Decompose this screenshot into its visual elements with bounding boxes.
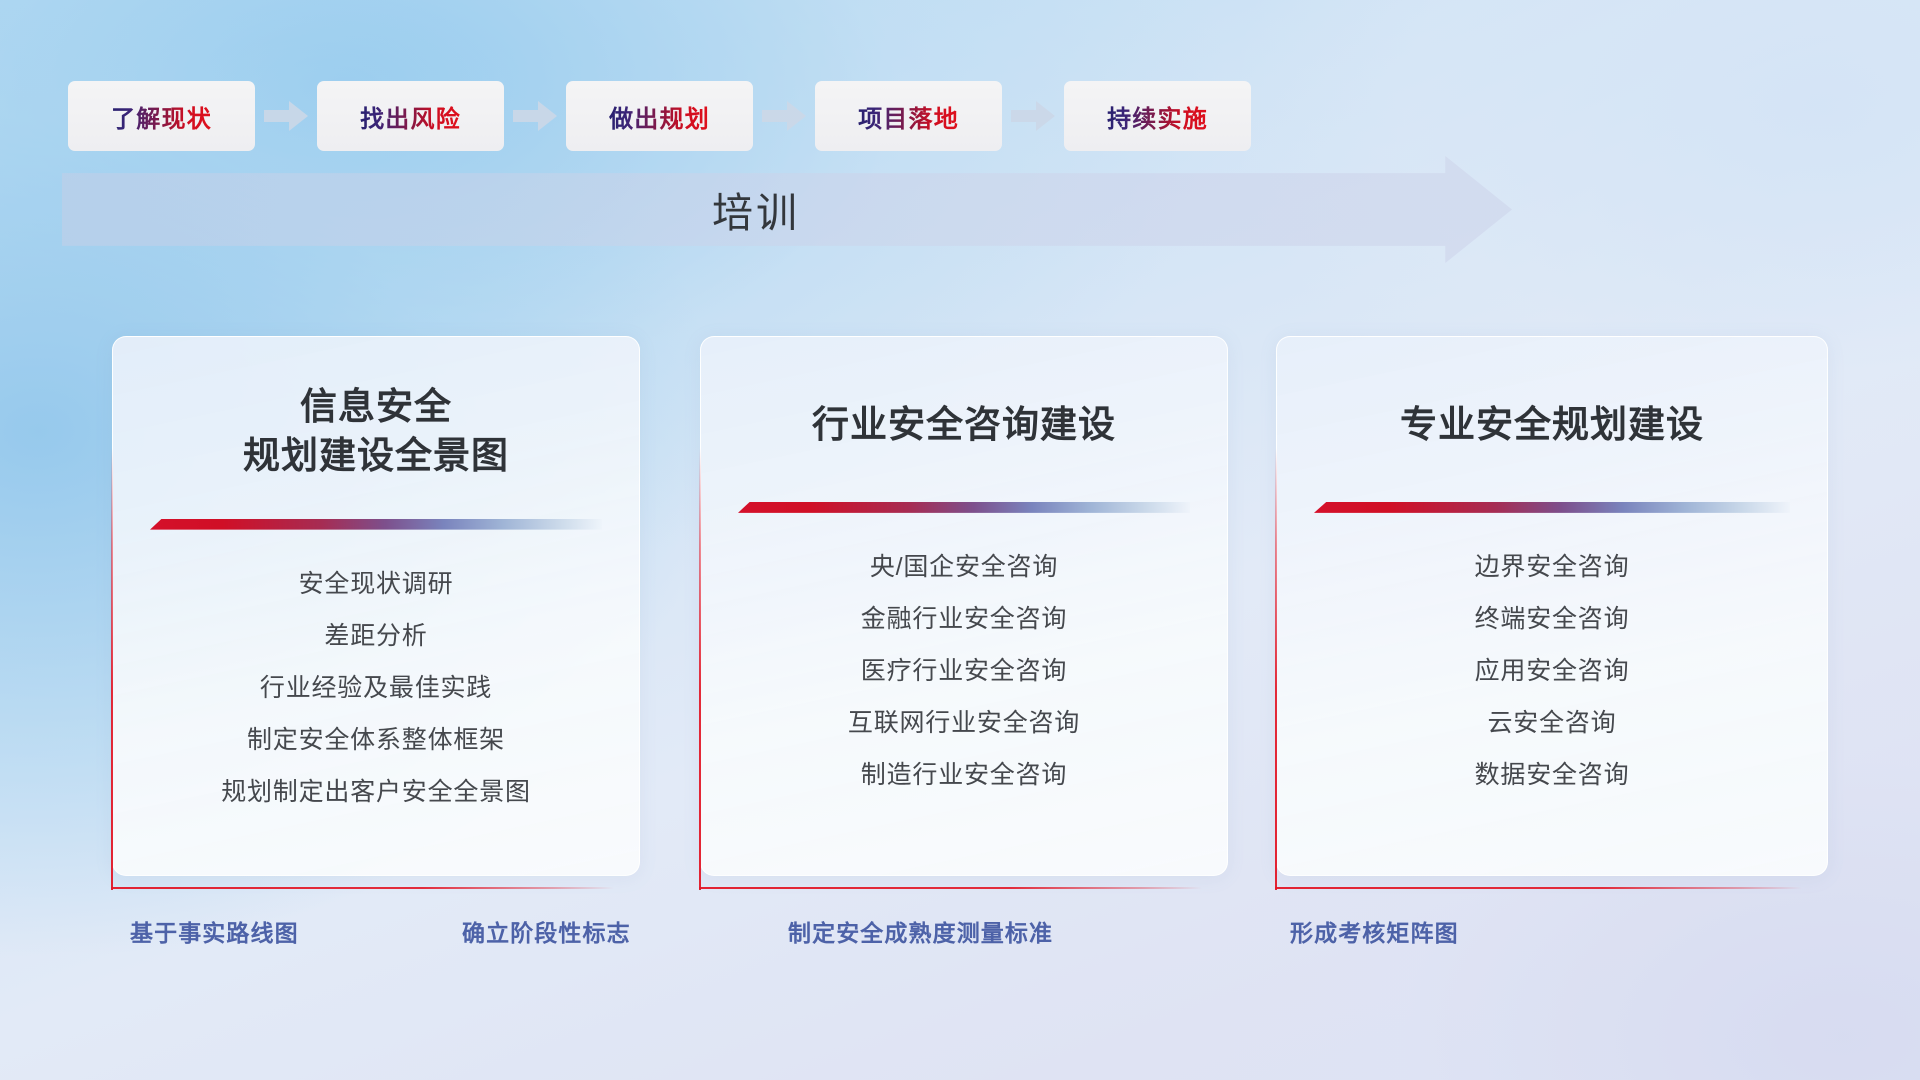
step-label-3: 做出规划 <box>609 99 710 134</box>
list-item: 终端安全咨询 <box>1277 607 1827 632</box>
list-item: 安全现状调研 <box>113 572 639 597</box>
list-item: 医疗行业安全咨询 <box>701 659 1227 684</box>
list-item: 边界安全咨询 <box>1277 555 1827 580</box>
card-title-line: 专业安全规划建设 <box>1277 401 1827 450</box>
card-industry-security-consulting[interactable]: 行业安全咨询建设 央/国企安全咨询 金融行业安全咨询 医疗行业安全咨询 互联网行… <box>700 336 1228 876</box>
card-divider-3 <box>1314 502 1790 513</box>
card-title-1: 信息安全 规划建设全景图 <box>113 337 639 481</box>
slide-canvas: 了解现状 找出风险 做出规划 项目落地 持续实施 培训 <box>0 0 1920 1080</box>
step-label-4: 项目落地 <box>858 99 959 134</box>
arrow-right-icon <box>264 99 308 133</box>
card-professional-security-planning[interactable]: 专业安全规划建设 边界安全咨询 终端安全咨询 应用安全咨询 云安全咨询 数据安全… <box>1276 336 1828 876</box>
card-list-2: 央/国企安全咨询 金融行业安全咨询 医疗行业安全咨询 互联网行业安全咨询 制造行… <box>701 513 1227 788</box>
list-item: 规划制定出客户安全全景图 <box>113 780 639 805</box>
card-list-1: 安全现状调研 差距分析 行业经验及最佳实践 制定安全体系整体框架 规划制定出客户… <box>113 530 639 805</box>
card-information-security-blueprint[interactable]: 信息安全 规划建设全景图 安全现状调研 差距分析 行业经验及最佳实践 制定安全体… <box>112 336 640 876</box>
process-steps-row: 了解现状 找出风险 做出规划 项目落地 持续实施 <box>68 80 1852 152</box>
footer-label-4: 形成考核矩阵图 <box>1290 914 1459 948</box>
card-title-line: 信息安全 <box>113 383 639 432</box>
card-title-line: 行业安全咨询建设 <box>701 401 1227 450</box>
footer-label-2: 确立阶段性标志 <box>462 914 631 948</box>
list-item: 差距分析 <box>113 624 639 649</box>
list-item: 应用安全咨询 <box>1277 659 1827 684</box>
card-wrapper-3: 专业安全规划建设 边界安全咨询 终端安全咨询 应用安全咨询 云安全咨询 数据安全… <box>1276 336 1828 876</box>
arrow-right-icon <box>762 99 806 133</box>
step-box-5[interactable]: 持续实施 <box>1064 81 1251 151</box>
list-item: 互联网行业安全咨询 <box>701 711 1227 736</box>
step-box-1[interactable]: 了解现状 <box>68 81 255 151</box>
card-divider-1 <box>150 519 602 530</box>
list-item: 行业经验及最佳实践 <box>113 676 639 701</box>
footer-labels-row: 基于事实路线图 确立阶段性标志 制定安全成熟度测量标准 形成考核矩阵图 <box>0 914 1920 964</box>
arrow-right-icon <box>513 99 557 133</box>
step-label-2: 找出风险 <box>360 99 461 134</box>
footer-label-3: 制定安全成熟度测量标准 <box>788 914 1053 948</box>
list-item: 央/国企安全咨询 <box>701 555 1227 580</box>
list-item: 数据安全咨询 <box>1277 763 1827 788</box>
card-accent-bottom-1 <box>111 887 614 889</box>
card-title-2: 行业安全咨询建设 <box>701 337 1227 450</box>
card-list-3: 边界安全咨询 终端安全咨询 应用安全咨询 云安全咨询 数据安全咨询 <box>1277 513 1827 788</box>
card-divider-2 <box>738 502 1190 513</box>
card-wrapper-1: 信息安全 规划建设全景图 安全现状调研 差距分析 行业经验及最佳实践 制定安全体… <box>112 336 640 876</box>
step-label-1: 了解现状 <box>111 99 212 134</box>
card-accent-bottom-2 <box>699 887 1202 889</box>
list-item: 云安全咨询 <box>1277 711 1827 736</box>
footer-label-1: 基于事实路线图 <box>130 914 299 948</box>
cards-row: 信息安全 规划建设全景图 安全现状调研 差距分析 行业经验及最佳实践 制定安全体… <box>0 336 1920 876</box>
step-box-4[interactable]: 项目落地 <box>815 81 1002 151</box>
list-item: 制造行业安全咨询 <box>701 763 1227 788</box>
card-wrapper-2: 行业安全咨询建设 央/国企安全咨询 金融行业安全咨询 医疗行业安全咨询 互联网行… <box>700 336 1228 876</box>
card-title-line: 规划建设全景图 <box>113 432 639 481</box>
banner-label: 培训 <box>62 178 1512 238</box>
card-accent-bottom-3 <box>1275 887 1802 889</box>
list-item: 制定安全体系整体框架 <box>113 728 639 753</box>
step-box-3[interactable]: 做出规划 <box>566 81 753 151</box>
card-title-3: 专业安全规划建设 <box>1277 337 1827 450</box>
step-box-2[interactable]: 找出风险 <box>317 81 504 151</box>
arrow-right-icon <box>1011 99 1055 133</box>
step-label-5: 持续实施 <box>1107 99 1208 134</box>
training-banner: 培训 <box>62 156 1512 263</box>
list-item: 金融行业安全咨询 <box>701 607 1227 632</box>
